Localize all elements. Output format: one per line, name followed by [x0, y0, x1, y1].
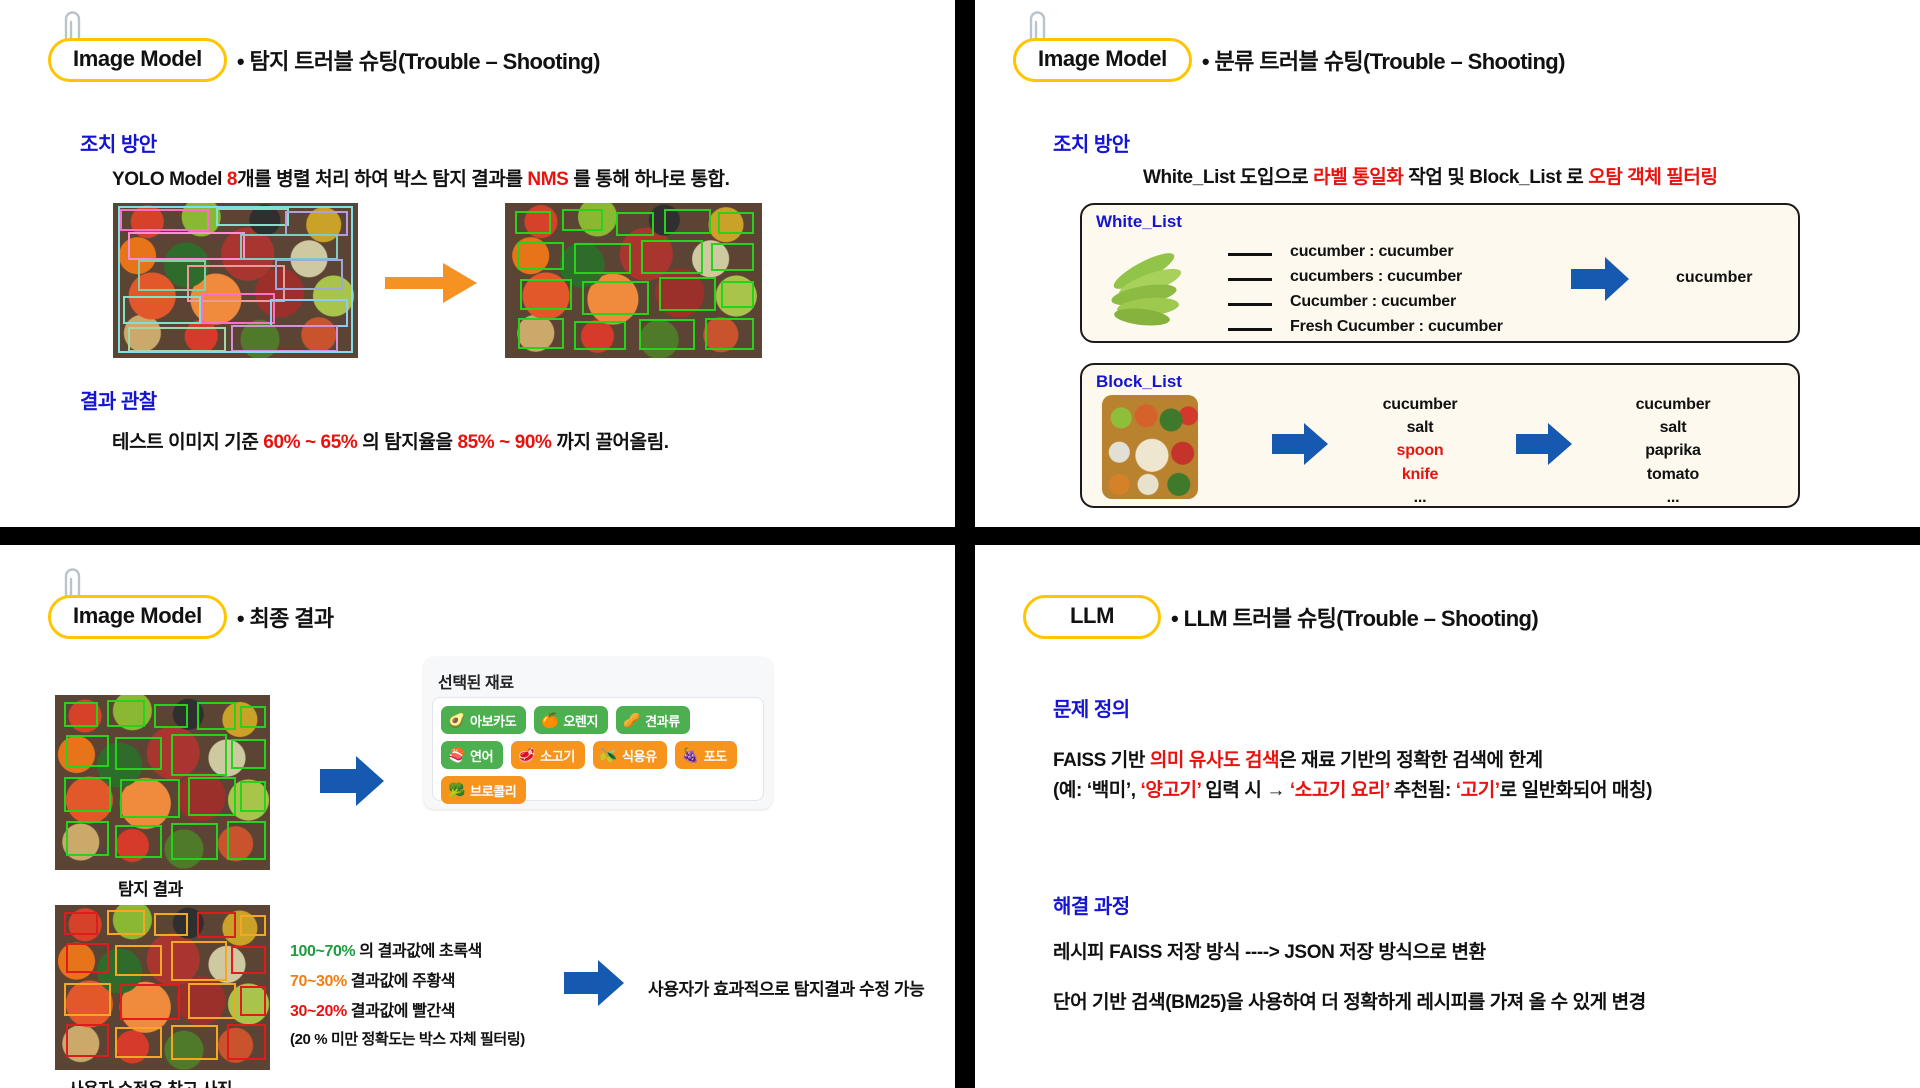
measures-text-red1: 8 — [227, 169, 237, 190]
ingredient-label: 견과류 — [645, 711, 680, 730]
white-list-card: White_List cucumber : cucumber cucumbers… — [1080, 203, 1800, 343]
problem-line-2: (예: ‘백미’, ‘양고기’ 입력 시 → ‘소고기 요리’ 추천됨: ‘고기… — [1053, 775, 1652, 802]
header-bottom-left: Image Model • 최종 결과 — [48, 595, 334, 639]
panel-bottom-right: LLM • LLM 트러블 슈팅(Trouble – Shooting) 문제 … — [975, 545, 1920, 1088]
observation-text: 테스트 이미지 기준 60% ~ 65% 의 탐지율을 85% ~ 90% 까지… — [112, 427, 669, 454]
problem-red1: 의미 유사도 검색 — [1150, 750, 1279, 771]
section-label-measures: 조치 방안 — [1053, 128, 1130, 157]
observation-post: 까지 끌어올림. — [552, 432, 669, 453]
legend-note: (20 % 미만 정확도는 박스 자체 필터링) — [290, 1028, 525, 1049]
problem-line-1: FAISS 기반 의미 유사도 검색은 재료 기반의 정확한 검색에 한계 — [1053, 745, 1543, 772]
ingredient-chip[interactable]: 🥑 아보카도 — [441, 706, 526, 734]
badge-llm: LLM — [1023, 595, 1161, 639]
problem2-r1: ‘양고기’ — [1141, 780, 1201, 801]
section-label-measures: 조치 방안 — [80, 128, 157, 157]
problem2-r2: ‘소고기 요리’ — [1290, 780, 1390, 801]
header-title: • 탐지 트러블 슈팅(Trouble – Shooting) — [237, 44, 600, 76]
block-list-before: cucumber salt spoon knife ... — [1350, 393, 1490, 509]
result-text: 사용자가 효과적으로 탐지결과 수정 가능 — [648, 975, 924, 1000]
block-word: tomato — [1598, 463, 1748, 486]
badge-wrap: Image Model — [48, 38, 227, 82]
section-label-solution: 해결 과정 — [1053, 890, 1130, 919]
legend-rest: 의 결과값에 초록색 — [355, 943, 482, 960]
measures-text-pre: YOLO Model — [112, 169, 227, 190]
white-list-mapping: Cucumber : cucumber — [1290, 293, 1456, 311]
ingredient-chip[interactable]: 🍣 연어 — [441, 741, 503, 769]
legend-value: 30~20% — [290, 1003, 347, 1020]
header-title: • 분류 트러블 슈팅(Trouble – Shooting) — [1202, 44, 1565, 76]
badge-wrap: Image Model — [1013, 38, 1192, 82]
ingredient-label: 연어 — [470, 746, 493, 765]
ingredient-chip[interactable]: 🥩 소고기 — [511, 741, 585, 769]
block-word: cucumber — [1350, 393, 1490, 416]
problem2-r3: ‘고기’ — [1456, 780, 1500, 801]
ingredient-chip[interactable]: 🍇 포도 — [675, 741, 737, 769]
ingredients-chip-list: 🥑 아보카도 🍊 오렌지 🥜 견과류 🍣 연어 🥩 소고기 — [432, 697, 764, 801]
food-board-photo — [1102, 395, 1198, 499]
ingredient-label: 아보카도 — [470, 711, 516, 730]
solution-line-1: 레시피 FAISS 저장 방식 ----> JSON 저장 방식으로 변환 — [1053, 937, 1486, 964]
problem2-p3: 추천됨: — [1389, 780, 1455, 801]
grapes-icon: 🍇 — [682, 748, 699, 762]
ingredient-label: 소고기 — [540, 746, 575, 765]
block-list-card: Block_List cucumber salt spoon knife ...… — [1080, 363, 1800, 508]
cucumber-photo — [1104, 237, 1194, 333]
broccoli-icon: 🥦 — [448, 783, 465, 797]
measures-text: White_List 도입으로 라벨 통일화 작업 및 Block_List 로… — [1143, 162, 1718, 189]
panel-top-right: Image Model • 분류 트러블 슈팅(Trouble – Shooti… — [975, 0, 1920, 527]
legend-row-orange: 70~30% 결과값에 주황색 — [290, 967, 455, 991]
white-list-mapping: cucumber : cucumber — [1290, 243, 1453, 261]
badge-image-model: Image Model — [48, 38, 227, 82]
arrow-orange-icon — [383, 255, 479, 311]
white-list-title: White_List — [1096, 212, 1182, 232]
badge-wrap: Image Model — [48, 595, 227, 639]
block-word: ... — [1350, 486, 1490, 509]
section-label-problem: 문제 정의 — [1053, 693, 1130, 722]
panel-bottom-left: Image Model • 최종 결과 — [0, 545, 955, 1088]
measures-text-mid: 개를 병렬 처리 하여 박스 탐지 결과를 — [237, 169, 527, 190]
measures-mid: 작업 및 Block_List 로 — [1403, 167, 1588, 188]
reference-caption: 사용자 수정용 참고 사진 — [68, 1075, 232, 1088]
legend-value: 100~70% — [290, 943, 355, 960]
problem2-p2: 입력 시 → — [1201, 780, 1290, 801]
oil-icon: 🫒 — [600, 748, 617, 762]
arrow-blue-icon — [562, 957, 626, 1009]
salmon-icon: 🍣 — [448, 748, 465, 762]
measures-red2: 오탐 객체 필터링 — [1588, 167, 1717, 188]
ingredients-panel-title: 선택된 재료 — [438, 669, 514, 693]
beef-icon: 🥩 — [518, 748, 535, 762]
ingredient-chip[interactable]: 🥦 브로콜리 — [441, 776, 526, 804]
white-list-mapping: Fresh Cucumber : cucumber — [1290, 318, 1503, 336]
block-word: salt — [1350, 416, 1490, 439]
block-word: knife — [1350, 463, 1490, 486]
header-title: • LLM 트러블 슈팅(Trouble – Shooting) — [1171, 601, 1538, 633]
slide-collage: Image Model • 탐지 트러블 슈팅(Trouble – Shooti… — [0, 0, 1920, 1088]
header-title: • 최종 결과 — [237, 601, 334, 633]
detection-caption: 탐지 결과 — [118, 875, 183, 900]
nuts-icon: 🥜 — [623, 713, 640, 727]
white-list-mapping: cucumbers : cucumber — [1290, 268, 1462, 286]
arrow-blue-icon — [1569, 255, 1631, 303]
block-word: ... — [1598, 486, 1748, 509]
detection-image-nms — [505, 203, 762, 358]
bbox-overlay-mixed — [55, 905, 270, 1070]
map-dash — [1228, 303, 1272, 306]
block-word: paprika — [1598, 439, 1748, 462]
ingredient-chip[interactable]: 🍊 오렌지 — [534, 706, 608, 734]
legend-rest: 결과값에 빨간색 — [347, 1003, 455, 1020]
section-label-observation: 결과 관찰 — [80, 385, 157, 414]
badge-image-model: Image Model — [48, 595, 227, 639]
ingredient-chip[interactable]: 🥜 견과류 — [616, 706, 690, 734]
problem2-p1: (예: ‘백미’, — [1053, 780, 1141, 801]
bbox-overlay-green — [55, 695, 270, 870]
orange-icon: 🍊 — [541, 713, 558, 727]
problem2-p4: 로 일반화되어 매칭) — [1500, 780, 1652, 801]
arrow-blue-icon — [1514, 421, 1574, 467]
solution-line-2: 단어 기반 검색(BM25)을 사용하여 더 정확하게 레시피를 가져 올 수 … — [1053, 987, 1646, 1014]
bbox-overlay-noisy — [113, 203, 358, 358]
measures-red1: 라벨 통일화 — [1313, 167, 1403, 188]
badge-image-model: Image Model — [1013, 38, 1192, 82]
legend-row-green: 100~70% 의 결과값에 초록색 — [290, 937, 482, 961]
ingredient-chip[interactable]: 🫒 식용유 — [593, 741, 667, 769]
map-dash — [1228, 278, 1272, 281]
header-bottom-right: LLM • LLM 트러블 슈팅(Trouble – Shooting) — [1023, 595, 1538, 639]
panel-top-left: Image Model • 탐지 트러블 슈팅(Trouble – Shooti… — [0, 0, 955, 527]
measures-text: YOLO Model 8개를 병렬 처리 하여 박스 탐지 결과를 NMS 를 … — [112, 164, 730, 191]
avocado-icon: 🥑 — [448, 713, 465, 727]
selected-ingredients-panel: 선택된 재료 🥑 아보카도 🍊 오렌지 🥜 견과류 🍣 연어 — [424, 657, 772, 809]
block-word: salt — [1598, 416, 1748, 439]
map-dash — [1228, 328, 1272, 331]
legend-row-red: 30~20% 결과값에 빨간색 — [290, 997, 455, 1021]
block-list-after: cucumber salt paprika tomato ... — [1598, 393, 1748, 509]
bbox-overlay-green — [505, 203, 762, 358]
reference-photo — [55, 905, 270, 1070]
legend-value: 70~30% — [290, 973, 347, 990]
block-word: cucumber — [1598, 393, 1748, 416]
ingredient-label: 오렌지 — [563, 711, 598, 730]
white-list-output: cucumber — [1676, 269, 1752, 287]
map-dash — [1228, 253, 1272, 256]
observation-pre: 테스트 이미지 기준 — [112, 432, 263, 453]
header-top-left: Image Model • 탐지 트러블 슈팅(Trouble – Shooti… — [48, 38, 600, 82]
arrow-blue-icon — [1270, 421, 1330, 467]
observation-red1: 60% ~ 65% — [263, 432, 357, 453]
problem-post: 은 재료 기반의 정확한 검색에 한계 — [1279, 750, 1543, 771]
measures-text-red2: NMS — [527, 169, 568, 190]
block-word: spoon — [1350, 439, 1490, 462]
ingredient-label: 식용유 — [622, 746, 657, 765]
badge-wrap: LLM — [1023, 595, 1161, 639]
observation-red2: 85% ~ 90% — [457, 432, 551, 453]
detection-image-noisy — [113, 203, 358, 358]
arrow-blue-icon — [318, 753, 386, 809]
ingredient-label: 포도 — [704, 746, 727, 765]
measures-pre: White_List 도입으로 — [1143, 167, 1313, 188]
ingredient-label: 브로콜리 — [470, 781, 516, 800]
legend-rest: 결과값에 주황색 — [347, 973, 455, 990]
measures-text-post: 를 통해 하나로 통합. — [568, 169, 729, 190]
detection-result-photo — [55, 695, 270, 870]
header-top-right: Image Model • 분류 트러블 슈팅(Trouble – Shooti… — [1013, 38, 1565, 82]
block-list-title: Block_List — [1096, 372, 1182, 392]
problem-pre: FAISS 기반 — [1053, 750, 1150, 771]
observation-mid: 의 탐지율을 — [357, 432, 457, 453]
